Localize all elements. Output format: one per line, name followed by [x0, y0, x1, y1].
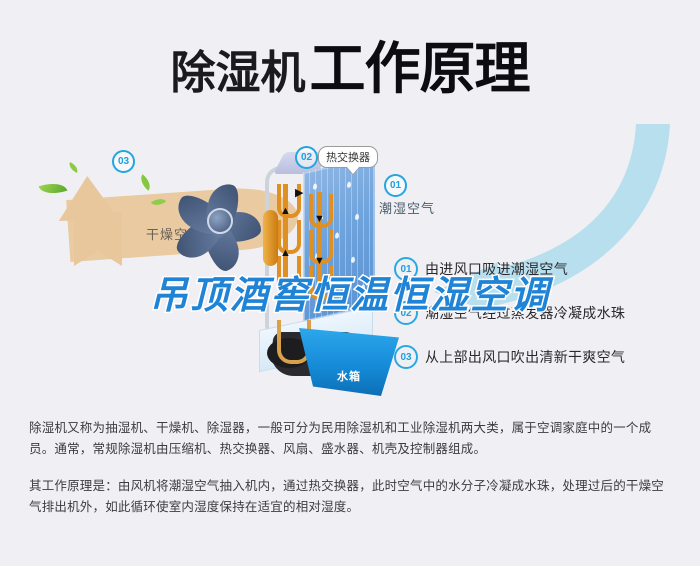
watermark-overlay-text: 吊顶酒窖恒温恒湿空调 — [0, 264, 700, 319]
water-tank-label: 水箱 — [337, 368, 361, 384]
step-number-badge: 03 — [394, 345, 418, 369]
paragraph-2: 其工作原理是：由风机将潮湿空气抽入机内，通过热交换器，此时空气中的水分子冷凝成水… — [29, 476, 675, 518]
diagram-badge-02: 02 — [295, 146, 318, 169]
page-title: 除湿机工作原理 — [0, 24, 700, 105]
description-block: 除湿机又称为抽湿机、干燥机、除湿器，一般可分为民用除湿机和工业除湿机两大类，属于… — [29, 418, 675, 534]
humid-air-label: 潮湿空气 — [379, 198, 435, 217]
list-item: 03 从上部出风口吹出清新干爽空气 — [394, 346, 694, 368]
paragraph-1: 除湿机又称为抽湿机、干燥机、除湿器，一般可分为民用除湿机和工业除湿机两大类，属于… — [29, 418, 675, 460]
page-root: 除湿机工作原理 干燥空气 — [0, 0, 700, 566]
diagram-badge-03: 03 — [112, 150, 135, 173]
step-text: 从上部出风口吹出清新干爽空气 — [425, 347, 625, 367]
water-tank — [299, 328, 399, 396]
heat-exchanger-callout: 热交换器 — [318, 146, 378, 168]
page-title-part2: 工作原理 — [310, 37, 530, 100]
page-title-part1: 除湿机 — [170, 47, 305, 98]
diagram-badge-01: 01 — [384, 174, 407, 197]
compressor-cylinder — [263, 210, 278, 266]
fan-icon — [163, 168, 269, 274]
